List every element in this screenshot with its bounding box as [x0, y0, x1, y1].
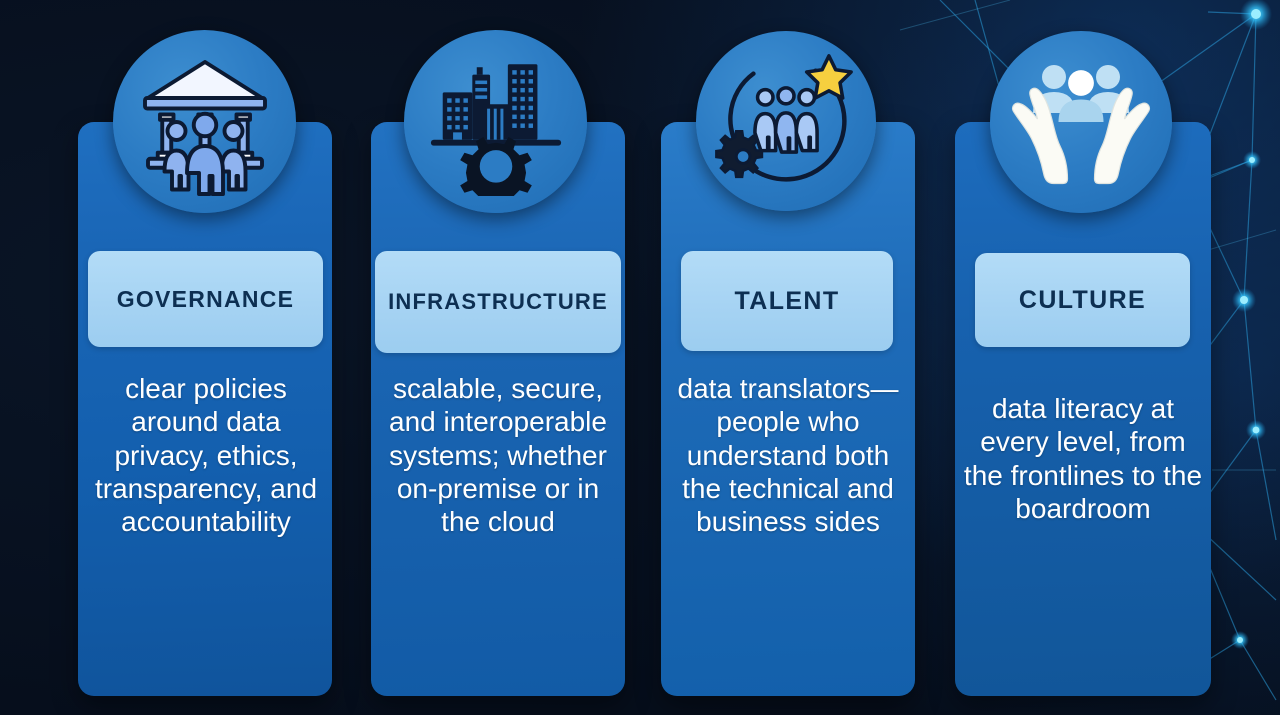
pillar-label-text: CULTURE	[1019, 286, 1146, 315]
buildings-gear-icon	[404, 30, 587, 213]
pillar-description-culture: data literacy at every level, from the f…	[962, 392, 1204, 525]
pillar-label-culture: CULTURE	[975, 253, 1190, 347]
pillar-label-text: GOVERNANCE	[117, 286, 295, 313]
pillar-label-talent: TALENT	[681, 251, 893, 351]
bank-people-icon	[113, 30, 296, 213]
pillar-label-text: INFRASTRUCTURE	[388, 289, 608, 315]
hands-holding-people-icon	[990, 31, 1172, 213]
pillar-description-talent: data translators—people who understand b…	[666, 372, 910, 539]
pillar-description-governance: clear policies around data privacy, ethi…	[88, 372, 324, 539]
pillar-label-infrastructure: INFRASTRUCTURE	[375, 251, 621, 353]
infographic-canvas: GOVERNANCE clear policies around data pr…	[0, 0, 1280, 715]
pillar-description-infrastructure: scalable, secure, and interoperable syst…	[376, 372, 620, 539]
people-star-gear-icon	[696, 31, 876, 211]
pillar-label-text: TALENT	[735, 287, 840, 316]
pillar-label-governance: GOVERNANCE	[88, 251, 323, 347]
